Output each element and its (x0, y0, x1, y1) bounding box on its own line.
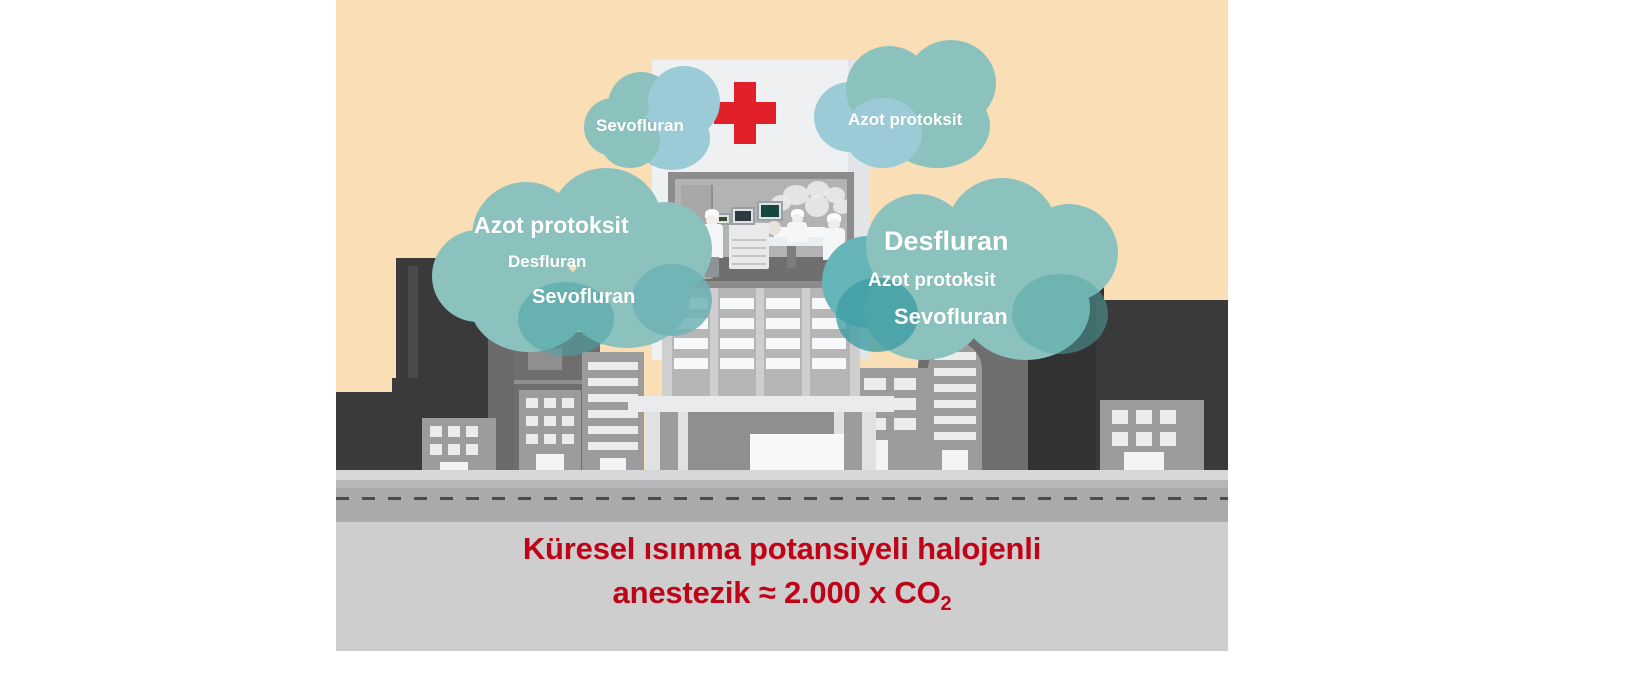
operating-table-leg (787, 246, 796, 268)
building-left-stripe-5 (588, 426, 638, 434)
building-right-wide-win-r2c3 (894, 398, 916, 410)
building-far-right-win-3 (1160, 410, 1176, 424)
building-right-round-stripe-2 (934, 368, 976, 376)
cloud-mid-left-label-2: Sevofluran (532, 286, 635, 309)
building-left-small-win-4 (430, 444, 442, 455)
patient-head (767, 221, 781, 235)
cloud-mid-right-label-2: Sevofluran (894, 304, 1008, 330)
building-left-gray-tower-win-2 (544, 398, 556, 408)
monitor-screen-1 (735, 211, 751, 221)
road-top-edge (336, 480, 1228, 488)
cart-drawer-3 (732, 255, 766, 257)
facade-window-r4c2 (720, 358, 754, 369)
building-right-round-stripe-3 (934, 384, 976, 392)
anesthesia-monitor (757, 201, 783, 221)
sidewalk-strip (336, 470, 1228, 480)
facade-window-r4c1 (674, 358, 708, 369)
building-far-right-win-2 (1136, 410, 1152, 424)
caption-line-2: anestezik ≈ 2.000 x CO2 (336, 571, 1228, 626)
building-right-round-stripe-4 (934, 400, 976, 408)
building-far-right-win-6 (1160, 432, 1176, 446)
building-left-stripe-1 (588, 362, 638, 370)
building-left-small-win-2 (448, 426, 460, 437)
hospital-emissions-illustration: Sevofluran Azot protoksit Azot protoksit… (336, 0, 1228, 651)
facade-window-r4c3 (766, 358, 800, 369)
hospital-canopy (628, 396, 894, 412)
caption-line-2-main: anestezik ≈ 2.000 x CO (613, 575, 941, 610)
cloud-top-left-label-0: Sevofluran (596, 116, 684, 136)
facade-window-r2c2 (720, 318, 754, 329)
cart-drawer-2 (732, 247, 766, 249)
building-far-right-win-5 (1136, 432, 1152, 446)
building-left-gray-tower-win-5 (544, 416, 556, 426)
building-far-right-win-4 (1112, 432, 1128, 446)
cloud-top-right-label-0: Azot protoksit (848, 110, 962, 130)
building-left-gray-tower-win-3 (562, 398, 574, 408)
building-left-dark-tall-cap (408, 266, 418, 378)
building-right-wide-win-r3c3 (894, 418, 916, 430)
cloud-top-right: Azot protoksit (814, 40, 1004, 180)
screenshot-canvas: Sevofluran Azot protoksit Azot protoksit… (0, 0, 1651, 691)
cloud-mid-right-label-0: Desfluran (884, 226, 1009, 257)
facade-column-3 (756, 288, 764, 396)
building-left-gray-tower-win-9 (562, 434, 574, 444)
building-left-mid-ledge (514, 380, 586, 384)
building-left-small-win-5 (448, 444, 460, 455)
vital-signs-monitor (731, 207, 755, 225)
facade-window-r3c2 (720, 338, 754, 349)
caption-line-1: Küresel ısınma potansiyeli halojenli (336, 527, 1228, 571)
anesthesiologist-body (787, 222, 807, 242)
cloud-mid-left-label-0: Azot protoksit (474, 212, 629, 239)
cloud-top-right-puff-5 (844, 98, 922, 168)
caption-text: Küresel ısınma potansiyeli halojenli ane… (336, 527, 1228, 626)
road-dashed-line (336, 497, 1228, 500)
facade-window-r3c3 (766, 338, 800, 349)
building-left-small-win-3 (466, 426, 478, 437)
building-left-gray-tower-win-4 (526, 416, 538, 426)
building-far-right-win-1 (1112, 410, 1128, 424)
building-left-gray-tower-win-8 (544, 434, 556, 444)
building-right-wide-win-r1c3 (894, 378, 916, 390)
cloud-mid-right-label-1: Azot protoksit (868, 270, 996, 292)
building-left-dark-1 (336, 392, 398, 480)
cloud-mid-right: Desfluran Azot protoksit Sevofluran (822, 178, 1122, 368)
building-left-small-win-1 (430, 426, 442, 437)
building-left-gray-tower-win-1 (526, 398, 538, 408)
building-left-gray-tower-win-6 (562, 416, 574, 426)
cloud-mid-left-puff-7 (632, 264, 712, 336)
monitor-screen-3 (719, 217, 727, 221)
cloud-top-left: Sevofluran (582, 62, 732, 172)
caption-co2-subscript: 2 (941, 593, 952, 615)
cloud-mid-left-label-1: Desfluran (508, 252, 586, 272)
facade-window-r1c3 (766, 298, 800, 309)
building-right-round-stripe-5 (934, 416, 976, 424)
facade-window-r1c2 (720, 298, 754, 309)
cloud-mid-left: Azot protoksit Desfluran Sevofluran (432, 168, 718, 358)
cloud-mid-right-puff-8 (1012, 274, 1108, 354)
cart-drawer-4 (732, 263, 766, 265)
building-left-small-win-6 (466, 444, 478, 455)
monitor-screen-2 (761, 205, 779, 217)
building-left-stripe-2 (588, 378, 638, 386)
building-left-stripe-6 (588, 442, 638, 450)
building-right-round-stripe-6 (934, 432, 976, 440)
facade-window-r2c3 (766, 318, 800, 329)
cart-drawer-1 (732, 239, 766, 241)
facade-column-4 (802, 288, 810, 396)
building-left-gray-tower-win-7 (526, 434, 538, 444)
